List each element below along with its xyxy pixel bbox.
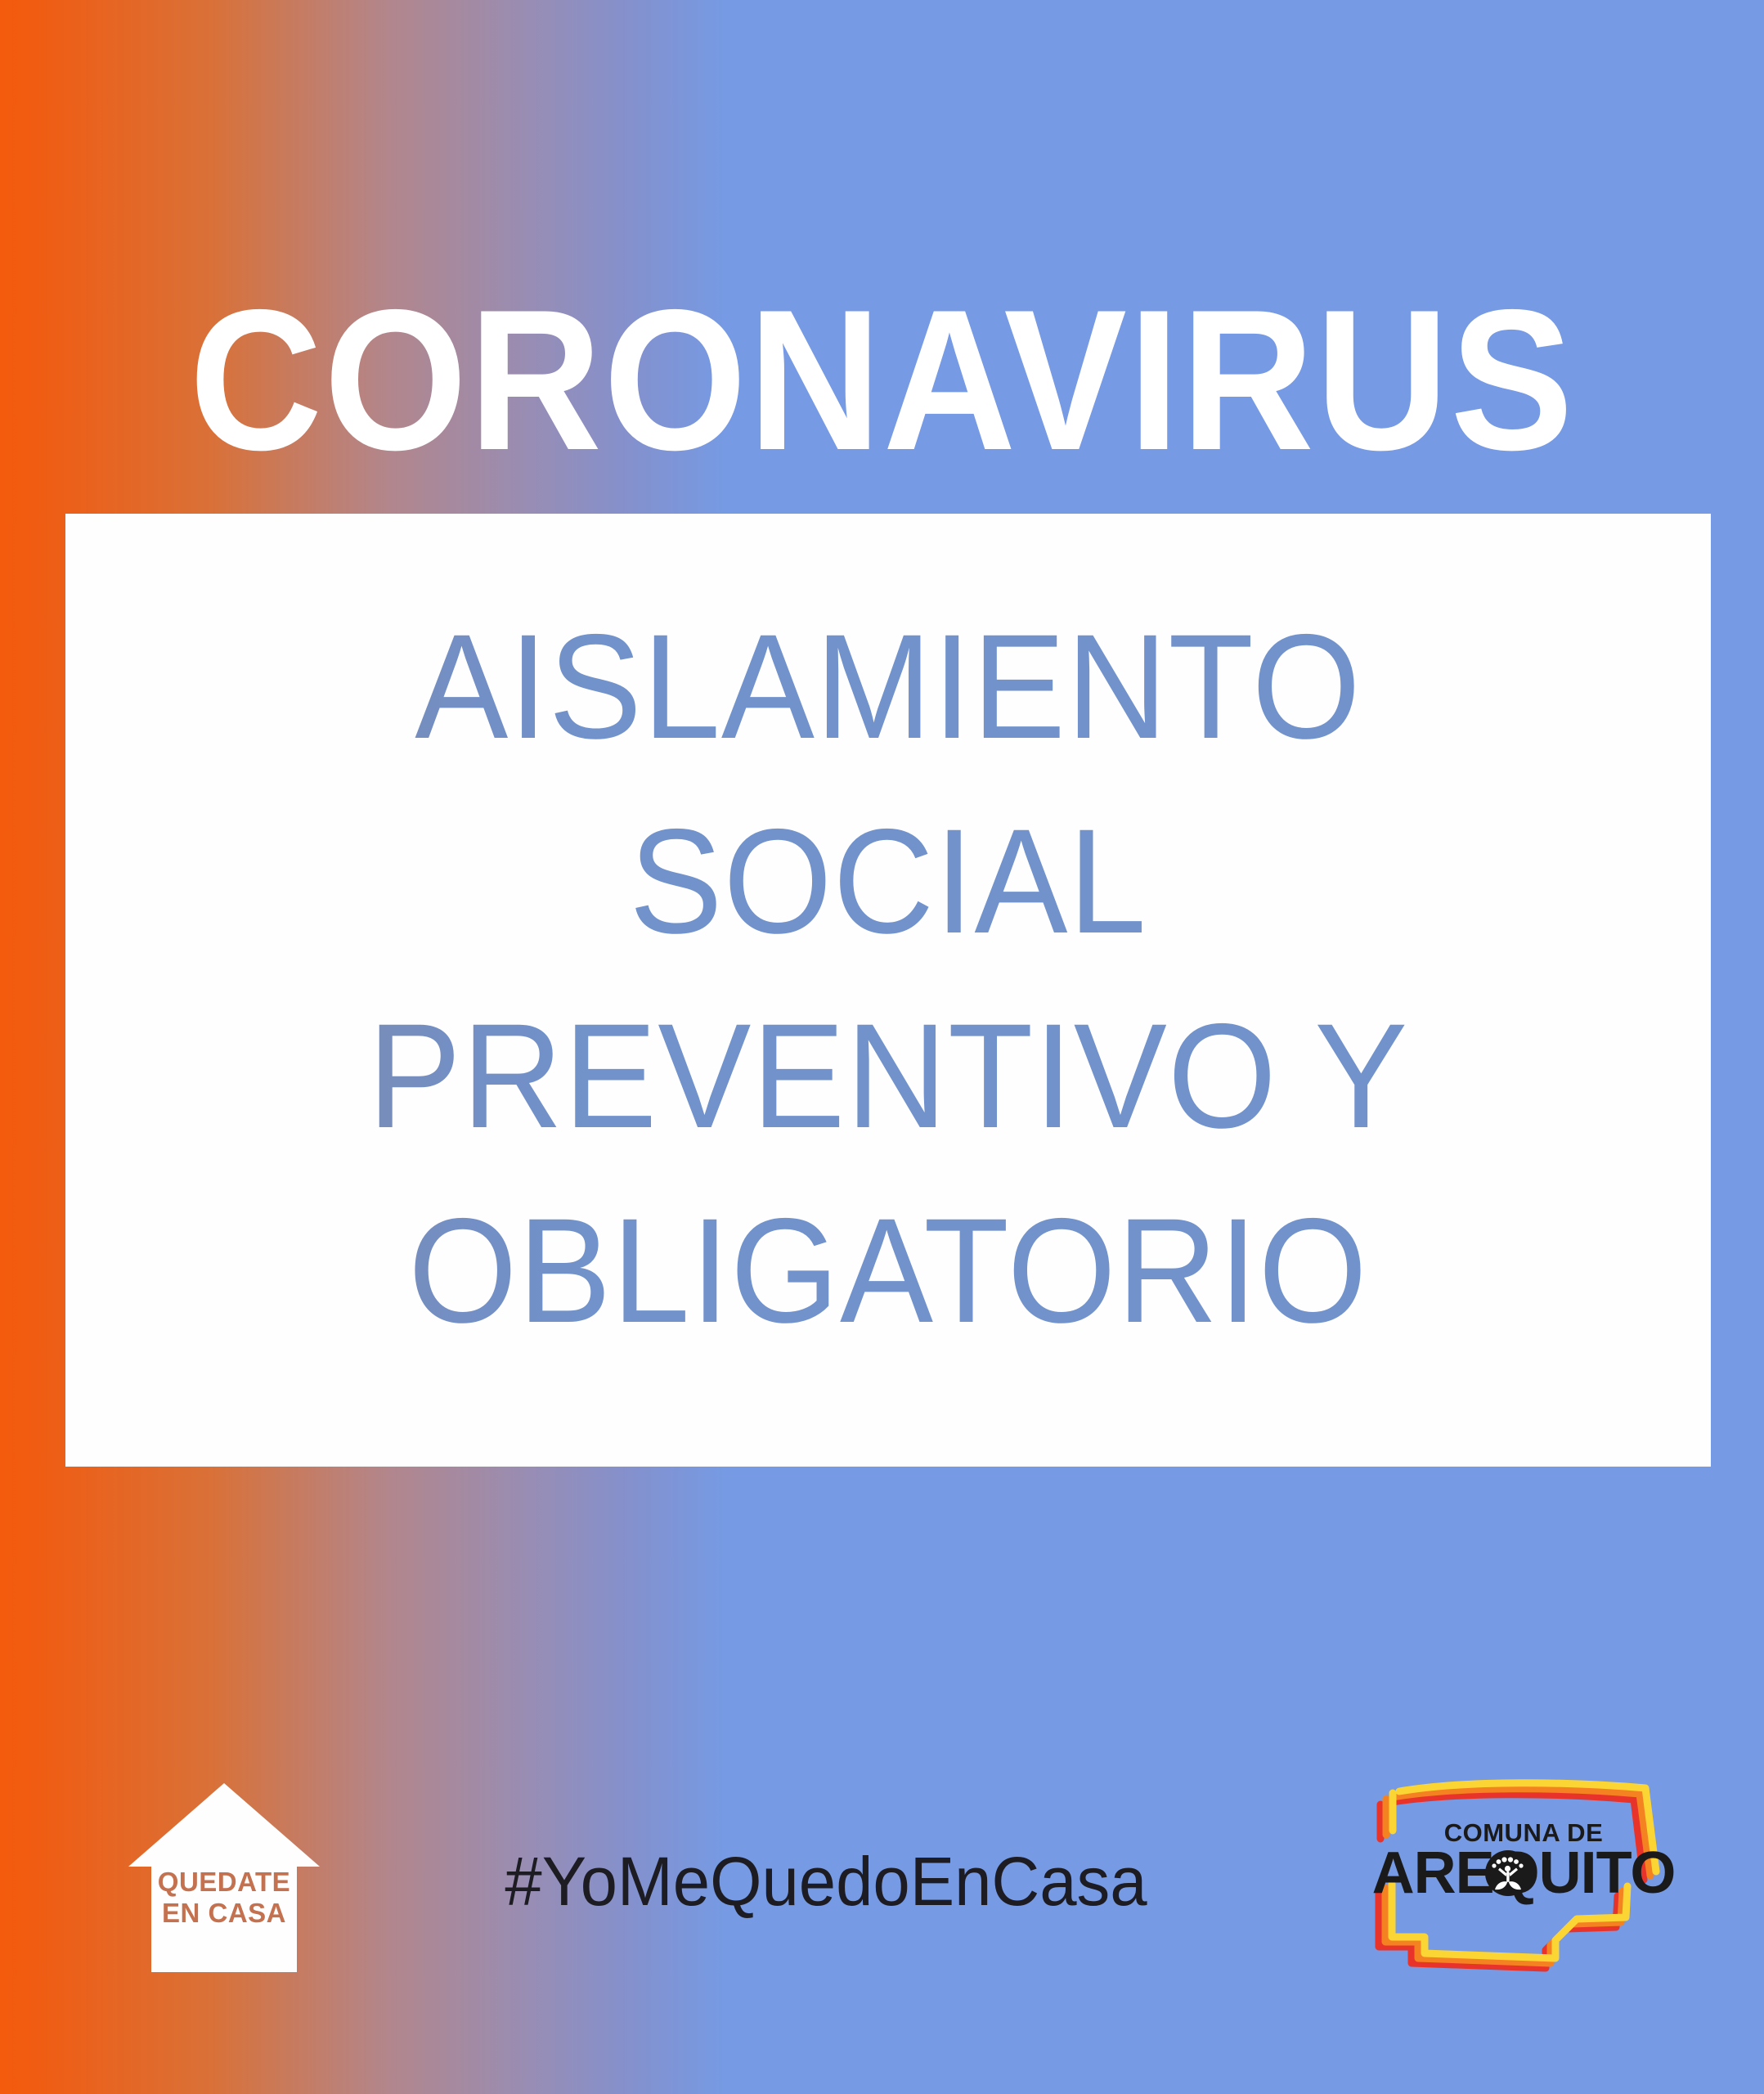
message-card-text: AISLAMIENTO SOCIAL PREVENTIVO Y OBLIGATO… (114, 589, 1661, 1368)
page-title: CORONAVIRUS (70, 280, 1693, 480)
message-line-3: PREVENTIVO Y (114, 978, 1661, 1173)
message-line-4: OBLIGATORIO (114, 1173, 1661, 1368)
message-card: AISLAMIENTO SOCIAL PREVENTIVO Y OBLIGATO… (65, 514, 1711, 1467)
house-icon (127, 1782, 321, 1974)
hashtag-text: #YoMeQuedoEnCasa (500, 1845, 1151, 1918)
message-line-1: AISLAMIENTO (114, 589, 1661, 784)
sprout-sun-emblem (1485, 1850, 1531, 1896)
poster-canvas: CORONAVIRUS AISLAMIENTO SOCIAL PREVENTIV… (0, 0, 1764, 2094)
comuna-de-arequito-logo: COMUNA DE AREQUITO (1356, 1757, 1691, 2035)
message-line-2: SOCIAL (114, 784, 1661, 978)
